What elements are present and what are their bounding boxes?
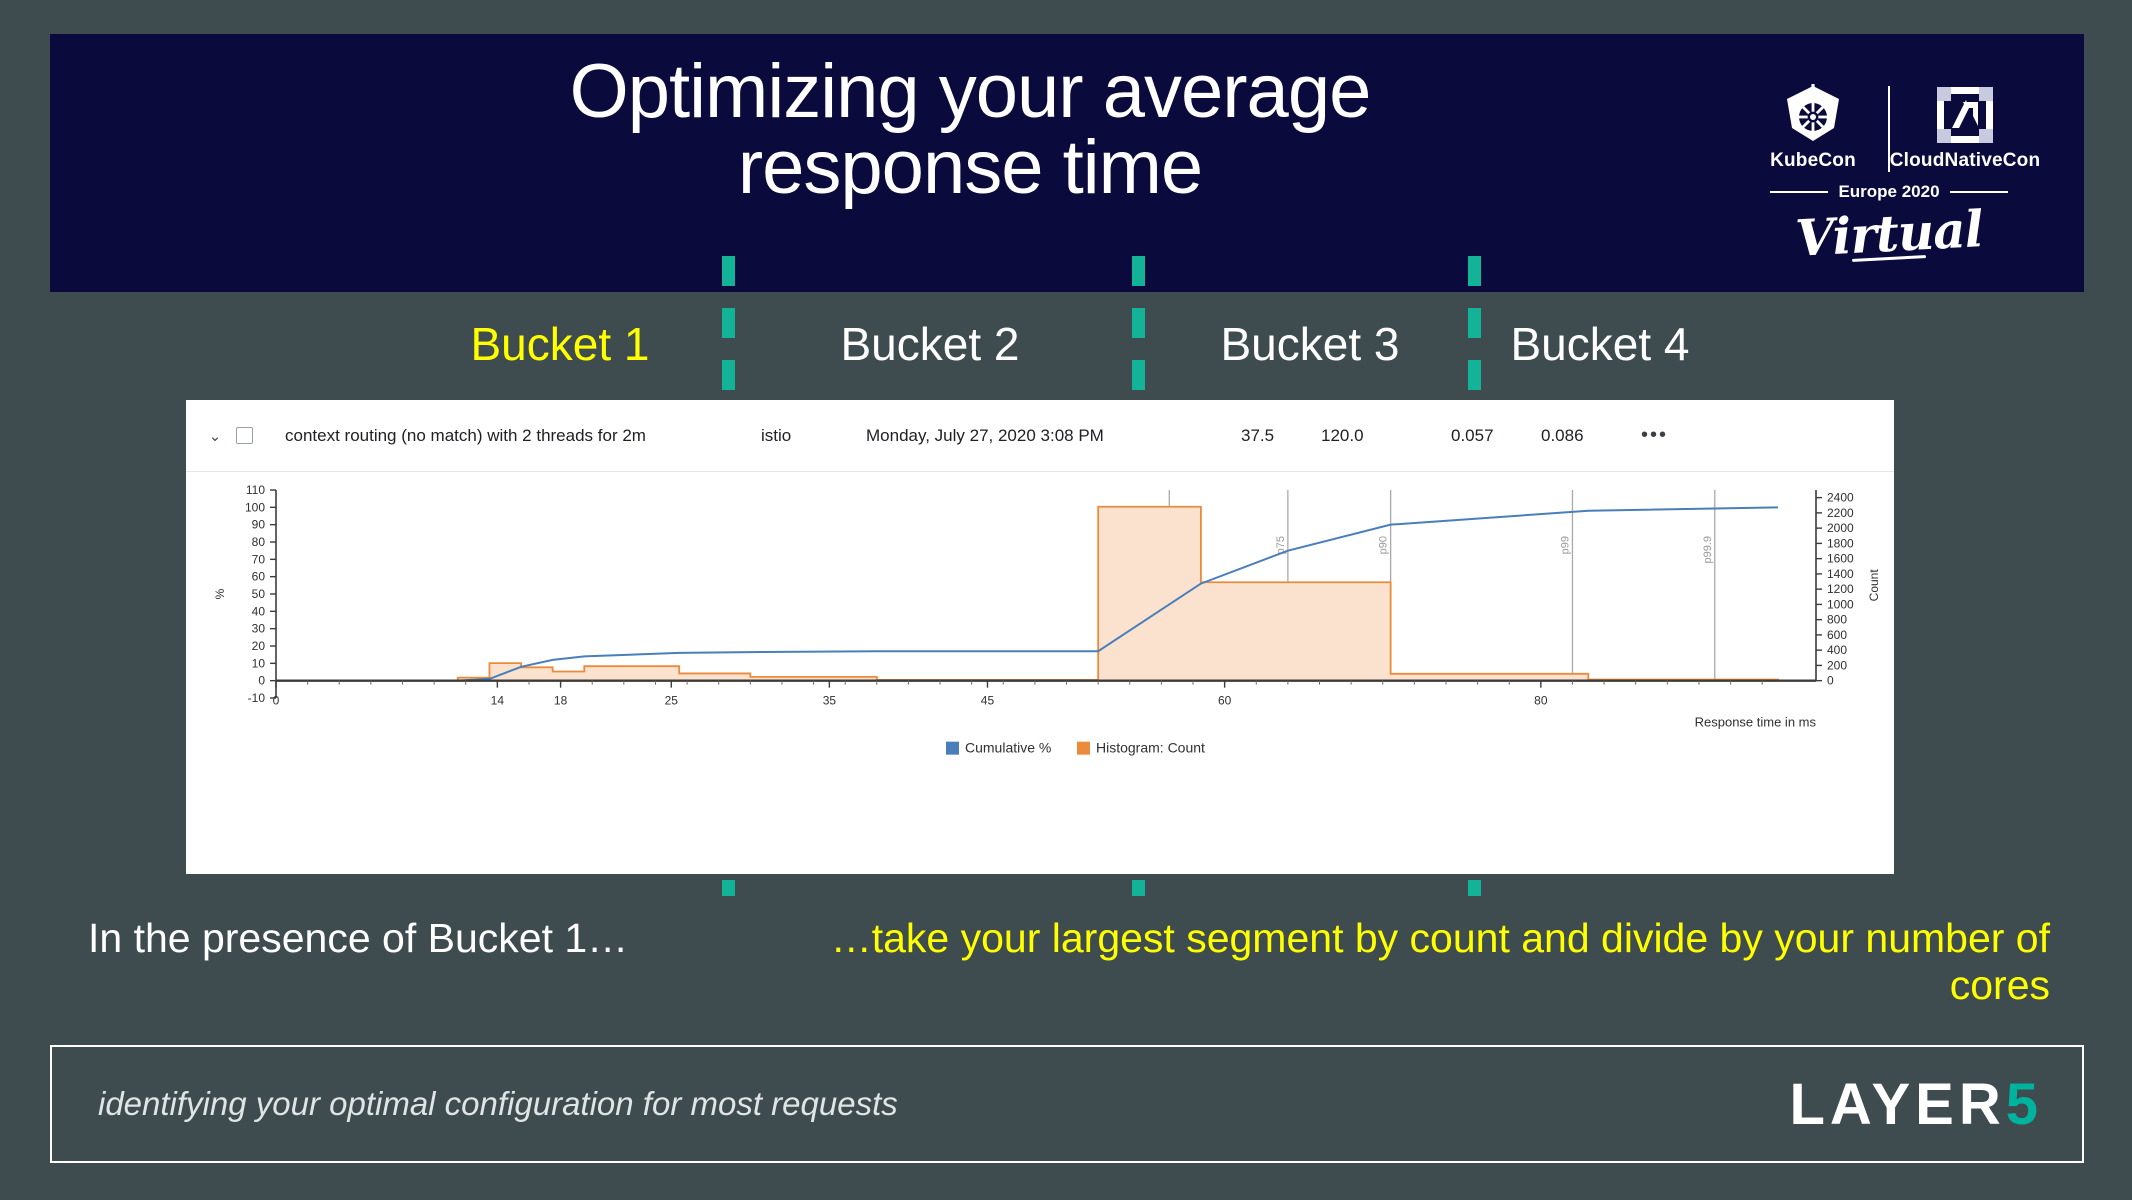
svg-text:2000: 2000 [1827,521,1854,535]
svg-text:45: 45 [981,694,995,708]
caption-right: …take your largest segment by count and … [790,915,2050,1009]
svg-text:600: 600 [1827,628,1847,642]
bucket-label-2: Bucket 2 [800,305,1060,383]
svg-text:400: 400 [1827,643,1847,657]
chart-canvas: -100102030405060708090100110%02004006008… [186,472,1894,873]
mesh-name: istio [761,426,791,446]
svg-text:50: 50 [252,587,266,601]
svg-text:30: 30 [252,622,266,636]
svg-text:2200: 2200 [1827,506,1854,520]
svg-text:1600: 1600 [1827,552,1854,566]
cloudnativecon-label: CloudNativeCon [1890,150,2041,172]
run-date: Monday, July 27, 2020 3:08 PM [866,426,1104,446]
rule-left [1770,191,1828,193]
svg-text:35: 35 [823,694,837,708]
svg-text:Count: Count [1867,569,1881,602]
svg-text:%: % [213,588,227,599]
svg-text:80: 80 [1534,694,1548,708]
svg-text:60: 60 [252,570,266,584]
layer5-logo: LAYER 5 [1789,1071,2040,1138]
bucket-label-3: Bucket 3 [1180,305,1440,383]
svg-text:10: 10 [252,656,266,670]
svg-text:1400: 1400 [1827,567,1854,581]
metric-value-1: 37.5 [1241,426,1274,446]
row-checkbox[interactable] [236,427,253,444]
svg-text:60: 60 [1218,694,1232,708]
kubecon-cloudnativecon-logo: KubeCon [1744,64,2034,284]
svg-text:p90: p90 [1378,536,1390,554]
svg-text:1200: 1200 [1827,582,1854,596]
slide-root: Optimizing your average response time [0,0,2132,1200]
bucket-label-4: Bucket 4 [1470,305,1730,383]
svg-text:70: 70 [252,552,266,566]
svg-text:2400: 2400 [1827,491,1854,505]
svg-text:Histogram: Count: Histogram: Count [1096,740,1205,756]
kubernetes-helm-icon [1782,84,1844,144]
expand-chevron-icon[interactable]: ⌄ [202,427,228,445]
more-options-icon[interactable]: ••• [1641,424,1668,447]
result-card: ⌄ context routing (no match) with 2 thre… [186,400,1894,874]
svg-text:25: 25 [665,694,679,708]
layer5-accent: 5 [2006,1071,2040,1138]
rule-right [1950,191,2008,193]
svg-text:-10: -10 [248,691,266,705]
svg-text:0: 0 [273,694,280,708]
cncf-mark-icon [1936,86,1994,144]
svg-text:Response time in ms: Response time in ms [1695,715,1817,730]
svg-text:0: 0 [258,674,265,688]
svg-text:90: 90 [252,518,266,532]
svg-text:20: 20 [252,639,266,653]
svg-text:1800: 1800 [1827,536,1854,550]
footer-bar: identifying your optimal configuration f… [50,1045,2084,1163]
bucket-label-row: Bucket 1 Bucket 2 Bucket 3 Bucket 4 [0,305,2132,383]
page-title: Optimizing your average response time [230,54,1710,206]
svg-text:0: 0 [1827,674,1834,688]
svg-text:Cumulative %: Cumulative % [965,740,1051,756]
title-line-2: response time [230,130,1710,206]
svg-text:200: 200 [1827,658,1847,672]
svg-text:100: 100 [245,500,265,514]
svg-text:110: 110 [246,483,265,497]
svg-text:80: 80 [252,535,266,549]
svg-text:40: 40 [252,604,266,618]
caption-left: In the presence of Bucket 1… [88,915,768,962]
title-line-1: Optimizing your average [230,54,1710,130]
histogram-chart: -100102030405060708090100110%02004006008… [186,472,1894,873]
metric-value-2: 120.0 [1321,426,1364,446]
metric-value-4: 0.086 [1541,426,1584,446]
logo-edition: Europe 2020 [1838,182,1939,202]
svg-text:p99.9: p99.9 [1702,536,1714,564]
metric-value-3: 0.057 [1451,426,1494,446]
layer5-wordmark: LAYER [1789,1071,2005,1138]
svg-text:14: 14 [491,694,505,708]
run-name: context routing (no match) with 2 thread… [285,426,646,446]
cloudnativecon-block: CloudNativeCon [1900,86,2030,172]
footer-tagline: identifying your optimal configuration f… [98,1085,898,1123]
svg-text:18: 18 [554,694,568,708]
svg-text:800: 800 [1827,613,1847,627]
logo-marks: KubeCon [1744,64,2034,172]
kubecon-block: KubeCon [1748,84,1878,172]
result-row[interactable]: ⌄ context routing (no match) with 2 thre… [186,400,1894,472]
svg-text:p99: p99 [1559,536,1571,554]
bucket-label-1: Bucket 1 [430,305,690,383]
title-band: Optimizing your average response time [50,34,2084,292]
svg-text:1000: 1000 [1827,597,1854,611]
kubecon-label: KubeCon [1770,150,1856,172]
